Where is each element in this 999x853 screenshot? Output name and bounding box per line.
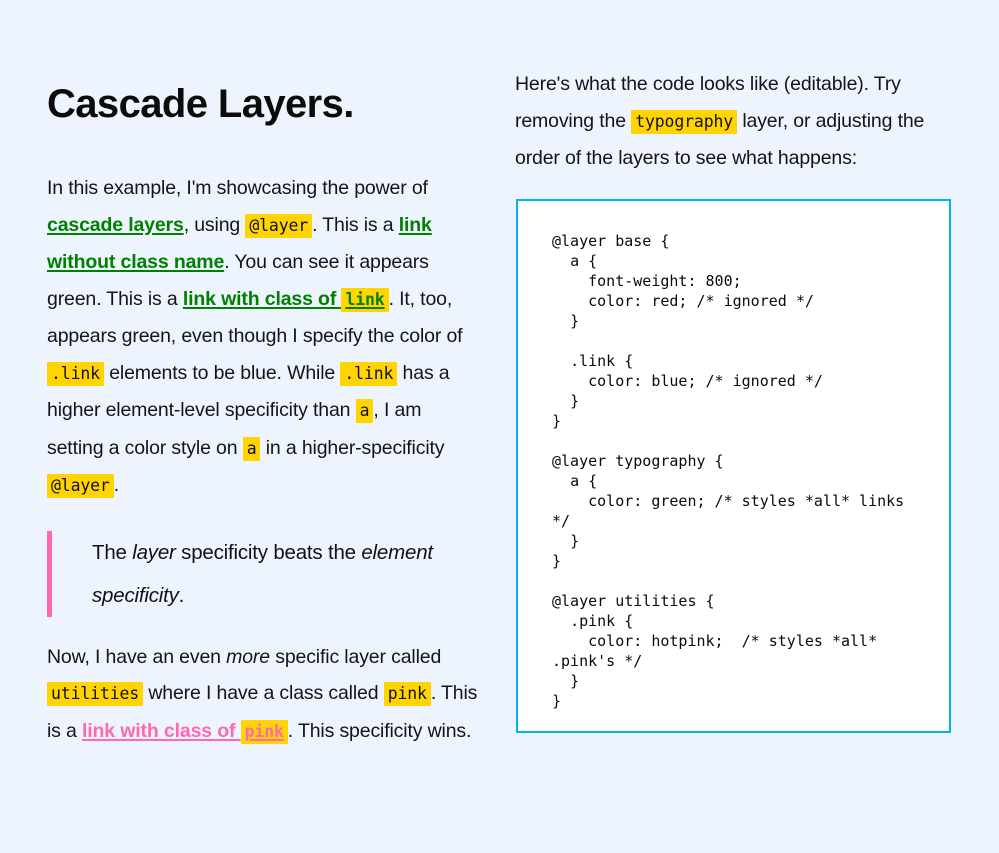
link-label: link with class of [183, 288, 342, 310]
text-fragment: In this example, I'm showcasing the powe… [47, 177, 428, 199]
link-label: link with class of [82, 720, 241, 742]
utilities-paragraph: Now, I have an even more specific layer … [47, 639, 479, 751]
text-fragment: in a higher-specificity [260, 437, 444, 459]
code-editor-content[interactable]: @layer base { a { font-weight: 800; colo… [518, 201, 949, 729]
code-pink: pink [241, 720, 288, 744]
code-intro-paragraph: Here's what the code looks like (editabl… [515, 66, 952, 177]
emphasis-layer: layer [132, 541, 175, 564]
emphasis-more: more [226, 646, 270, 668]
code-link: link [341, 288, 388, 312]
text-fragment: . This is a [312, 214, 399, 236]
code-typography: typography [631, 110, 737, 134]
right-column: Here's what the code looks like (editabl… [515, 66, 952, 195]
text-fragment: . This specificity wins. [288, 720, 472, 742]
text-fragment: elements to be blue. While [104, 362, 340, 384]
text-fragment: specific layer called [270, 646, 441, 668]
text-fragment: Now, I have an even [47, 646, 226, 668]
link-with-class-of-pink[interactable]: link with class of pink [82, 720, 288, 742]
code-pink: pink [384, 682, 431, 706]
intro-paragraph: In this example, I'm showcasing the powe… [47, 170, 479, 505]
page-title: Cascade Layers. [47, 82, 479, 126]
code-a-selector: a [356, 399, 374, 423]
code-a-selector: a [243, 437, 261, 461]
link-cascade-layers[interactable]: cascade layers [47, 214, 184, 236]
pull-quote: The layer specificity beats the element … [47, 531, 479, 617]
text-fragment: where I have a class called [143, 682, 384, 704]
code-utilities: utilities [47, 682, 143, 706]
code-dot-link: .link [47, 362, 104, 386]
code-at-layer: @layer [47, 474, 114, 498]
left-column: Cascade Layers. In this example, I'm sho… [47, 82, 479, 750]
page-root: Cascade Layers. In this example, I'm sho… [0, 0, 999, 853]
code-dot-link: .link [340, 362, 397, 386]
text-fragment: , using [184, 214, 246, 236]
text-fragment: specificity beats the [176, 541, 362, 564]
code-at-layer: @layer [245, 214, 312, 238]
text-fragment: . [114, 474, 119, 496]
text-fragment: The [92, 541, 132, 564]
code-editor-panel[interactable]: @layer base { a { font-weight: 800; colo… [516, 199, 951, 733]
text-fragment: . [179, 584, 185, 607]
link-with-class-of-link[interactable]: link with class of link [183, 288, 389, 310]
